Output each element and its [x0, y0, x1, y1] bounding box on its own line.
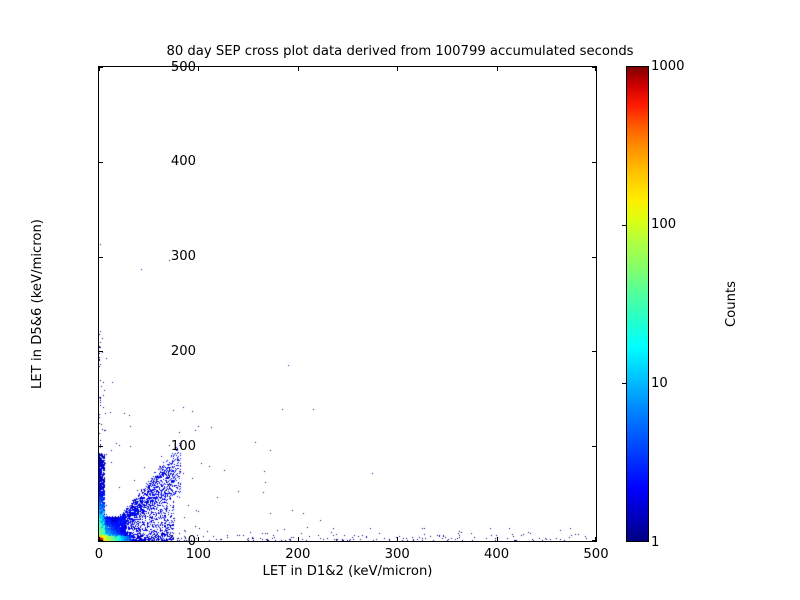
y-tick-label-0: 0 — [188, 535, 196, 548]
y-tick-400 — [592, 162, 596, 163]
colorbar-tick-100 — [622, 225, 626, 226]
x-tick-100 — [198, 537, 199, 541]
colorbar-tick-label-100: 100 — [651, 218, 676, 231]
x-tick-400 — [497, 537, 498, 541]
y-tick-label-400: 400 — [171, 155, 196, 168]
y-tick-300 — [99, 257, 103, 258]
colorbar-tick-10 — [622, 383, 626, 384]
y-tick-label-200: 200 — [171, 345, 196, 358]
y-tick-200 — [99, 351, 103, 352]
y-tick-100 — [99, 446, 103, 447]
y-tick-label-500: 500 — [171, 61, 196, 74]
x-tick-label-500: 500 — [583, 548, 608, 561]
x-tick-label-100: 100 — [186, 548, 211, 561]
x-tick-300 — [397, 67, 398, 71]
colorbar-title: Counts — [724, 281, 739, 327]
x-tick-400 — [497, 67, 498, 71]
y-tick-label-100: 100 — [171, 440, 196, 453]
scatter-data-layer — [99, 67, 596, 541]
y-tick-300 — [592, 257, 596, 258]
x-tick-label-300: 300 — [385, 548, 410, 561]
x-axis-title: LET in D1&2 (keV/micron) — [98, 564, 597, 579]
colorbar-tick-label-1000: 1000 — [651, 60, 685, 73]
x-tick-500 — [595, 537, 596, 541]
y-tick-100 — [592, 446, 596, 447]
colorbar-gradient — [626, 66, 649, 542]
y-tick-400 — [99, 162, 103, 163]
y-tick-200 — [592, 351, 596, 352]
x-tick-label-400: 400 — [484, 548, 509, 561]
x-tick-500 — [595, 67, 596, 71]
y-tick-label-300: 300 — [171, 250, 196, 263]
colorbar-tick-label-1: 1 — [651, 536, 659, 549]
scatter-plot-area[interactable] — [98, 66, 597, 542]
x-tick-200 — [298, 67, 299, 71]
x-tick-0 — [99, 537, 100, 541]
x-tick-200 — [298, 537, 299, 541]
colorbar-tick-label-10: 10 — [651, 377, 668, 390]
y-axis-title: LET in D5&6 (keV/micron) — [30, 219, 45, 389]
x-tick-label-0: 0 — [95, 548, 103, 561]
figure-title-line-1: 80 day SEP cross plot data derived from … — [0, 43, 800, 61]
x-tick-100 — [198, 67, 199, 71]
x-tick-0 — [99, 67, 100, 71]
colorbar[interactable] — [626, 66, 649, 542]
figure-canvas: 80 day SEP cross plot data derived from … — [0, 0, 800, 600]
x-tick-label-200: 200 — [285, 548, 310, 561]
x-tick-300 — [397, 537, 398, 541]
